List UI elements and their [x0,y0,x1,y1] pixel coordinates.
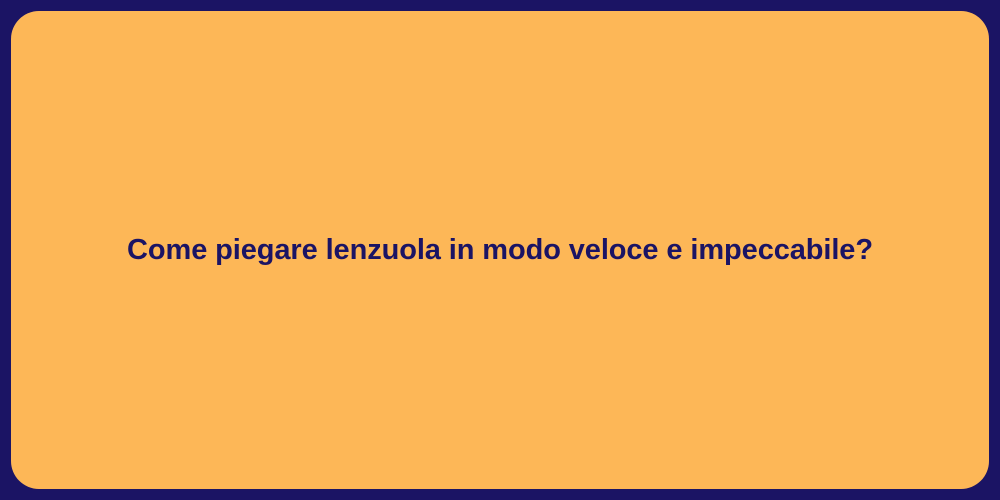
page-background: Come piegare lenzuola in modo veloce e i… [0,0,1000,500]
content-card: Come piegare lenzuola in modo veloce e i… [11,11,989,489]
page-title: Come piegare lenzuola in modo veloce e i… [87,232,913,268]
